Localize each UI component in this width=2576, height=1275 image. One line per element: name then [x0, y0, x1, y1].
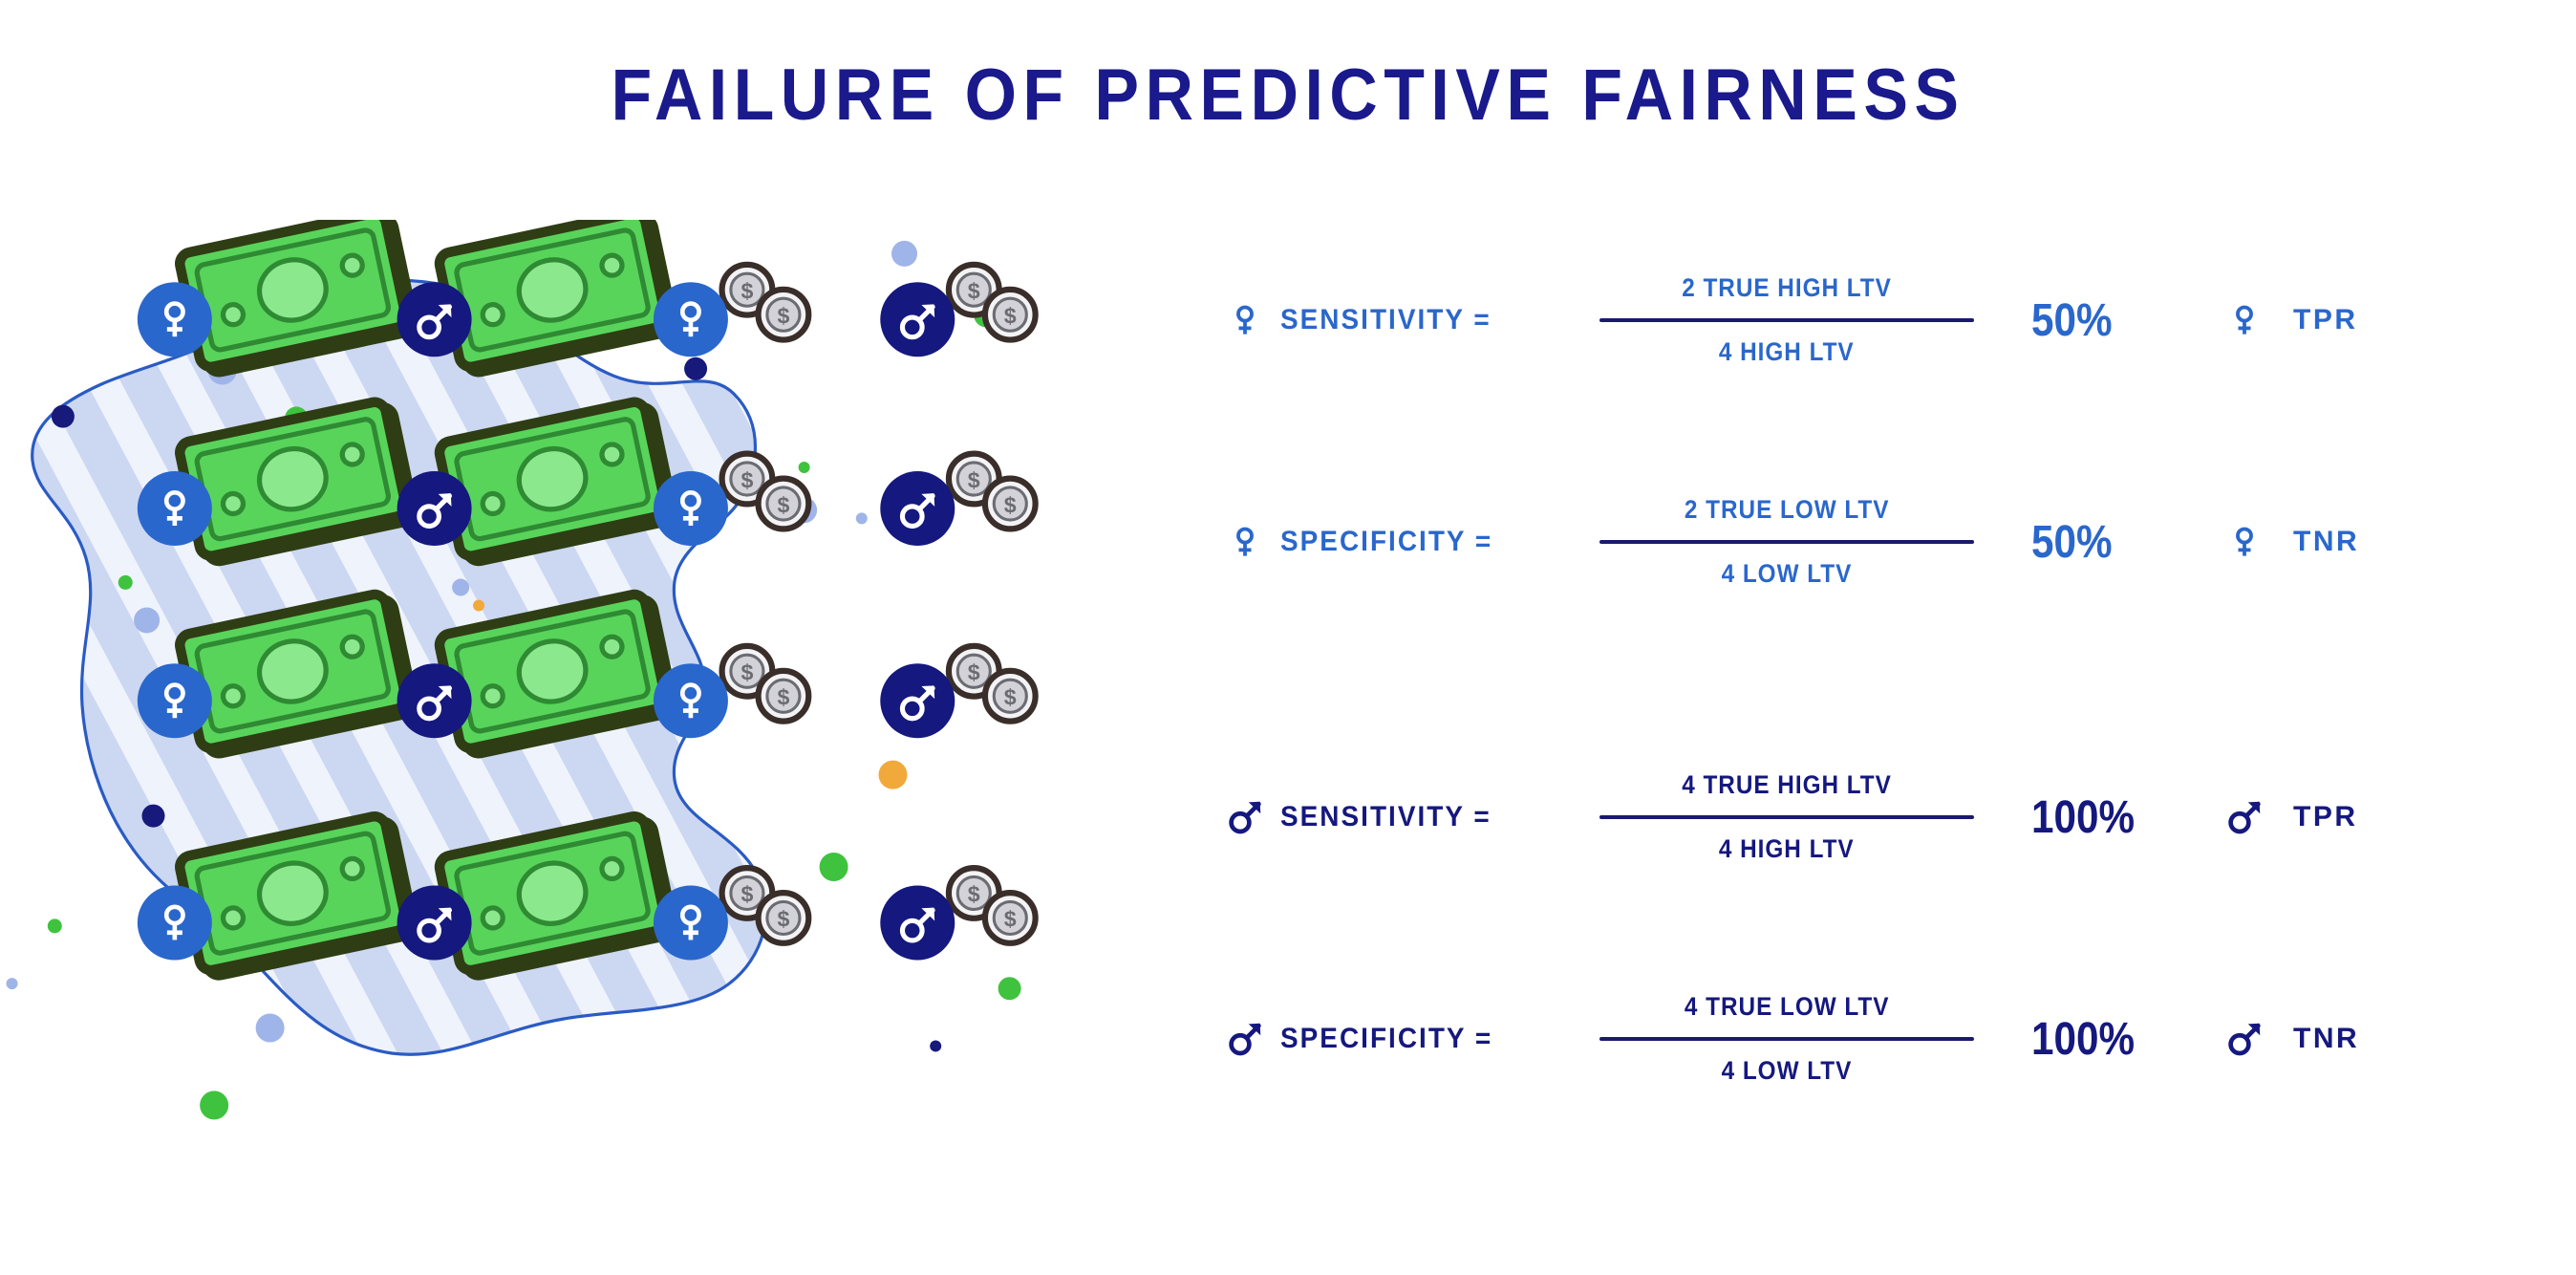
decorative-dot: [256, 1014, 285, 1043]
female-icon: [2222, 521, 2266, 563]
female-icon: [1223, 299, 1267, 341]
rate-group: TPR: [2222, 299, 2358, 341]
decorative-dot: [820, 853, 848, 881]
fraction: 2 TRUE HIGH LTV 4 HIGH LTV: [1596, 275, 1978, 365]
illustration-svg: $: [0, 220, 1147, 1223]
metric-label: SENSITIVITY =: [1280, 304, 1529, 336]
male-icon: [2222, 798, 2266, 836]
decorative-dot: [473, 599, 484, 611]
illustration-panel: $: [0, 220, 1147, 1223]
fraction-bar: [1599, 815, 1974, 819]
coin-icon: [985, 893, 1036, 943]
fraction: 4 TRUE HIGH LTV 4 HIGH LTV: [1596, 772, 1978, 862]
page-title: FAILURE OF PREDICTIVE FAIRNESS: [103, 54, 2473, 137]
decorative-dot: [684, 357, 707, 380]
fraction-bar: [1599, 318, 1974, 322]
person-marker-male[interactable]: [880, 454, 1035, 546]
fraction-denominator: 4 HIGH LTV: [1719, 339, 1855, 365]
fraction-denominator: 4 LOW LTV: [1722, 561, 1853, 587]
decorative-dot: [52, 405, 75, 428]
percent-value: 100%: [2031, 1013, 2191, 1066]
metric-label: SENSITIVITY =: [1280, 801, 1529, 833]
rate-label: TPR: [2293, 304, 2358, 336]
fraction-bar: [1599, 1037, 1974, 1041]
coin-icon: [985, 671, 1036, 722]
fraction-denominator: 4 LOW LTV: [1722, 1058, 1853, 1084]
female-icon: [1223, 521, 1267, 563]
rate-group: TNR: [2222, 521, 2359, 563]
decorative-dot: [998, 977, 1021, 1000]
fraction-numerator: 4 TRUE HIGH LTV: [1682, 772, 1892, 798]
fraction: 2 TRUE LOW LTV 4 LOW LTV: [1596, 497, 1978, 587]
coin-icon: [759, 479, 809, 529]
decorative-dot: [141, 805, 164, 828]
percent-value: 50%: [2031, 294, 2191, 347]
rate-group: TNR: [2222, 1020, 2359, 1058]
fraction-bar: [1599, 540, 1974, 544]
decorative-dot: [891, 241, 917, 267]
person-marker-male[interactable]: [880, 646, 1035, 738]
male-icon: [2222, 1020, 2266, 1058]
decorative-dot: [134, 607, 160, 633]
rate-label: TNR: [2293, 1023, 2359, 1055]
person-marker-female[interactable]: [654, 265, 808, 357]
decorative-dot: [856, 512, 868, 524]
fraction: 4 TRUE LOW LTV 4 LOW LTV: [1596, 994, 1978, 1084]
person-marker-male[interactable]: [397, 220, 676, 376]
person-marker-male[interactable]: [880, 265, 1035, 357]
infographic-page: FAILURE OF PREDICTIVE FAIRNESS: [0, 0, 2576, 1275]
rate-label: TNR: [2293, 526, 2359, 558]
percent-value: 50%: [2031, 516, 2191, 569]
fraction-denominator: 4 HIGH LTV: [1719, 836, 1855, 862]
fraction-numerator: 2 TRUE HIGH LTV: [1682, 275, 1892, 301]
person-marker-male[interactable]: [880, 868, 1035, 960]
decorative-dot: [452, 579, 469, 596]
decorative-dot: [799, 462, 810, 473]
rate-label: TPR: [2293, 801, 2358, 833]
coin-icon: [759, 290, 809, 340]
coin-icon: [985, 290, 1036, 340]
coin-icon: [759, 671, 809, 722]
fraction-numerator: 2 TRUE LOW LTV: [1685, 497, 1890, 523]
decorative-dot: [200, 1091, 228, 1119]
coin-icon: [985, 479, 1036, 529]
percent-value: 100%: [2031, 791, 2191, 844]
coin-icon: [759, 893, 809, 943]
formula-row-female-specificity: SPECIFICITY = 2 TRUE LOW LTV 4 LOW LTV 5…: [1223, 461, 2542, 623]
decorative-dot: [48, 918, 62, 933]
metric-label: SPECIFICITY =: [1280, 1023, 1529, 1055]
decorative-dot: [878, 761, 907, 789]
formula-row-male-specificity: SPECIFICITY = 4 TRUE LOW LTV 4 LOW LTV 1…: [1223, 958, 2542, 1120]
fraction-numerator: 4 TRUE LOW LTV: [1685, 994, 1890, 1020]
formula-row-female-sensitivity: SENSITIVITY = 2 TRUE HIGH LTV 4 HIGH LTV…: [1223, 239, 2542, 401]
decorative-dot: [930, 1040, 941, 1051]
formula-list: SENSITIVITY = 2 TRUE HIGH LTV 4 HIGH LTV…: [1223, 239, 2542, 1195]
money-bill-icon: [438, 220, 676, 376]
formula-row-male-sensitivity: SENSITIVITY = 4 TRUE HIGH LTV 4 HIGH LTV…: [1223, 736, 2542, 898]
rate-group: TPR: [2222, 798, 2358, 836]
metric-label: SPECIFICITY =: [1280, 526, 1529, 558]
male-icon: [1223, 1020, 1267, 1058]
female-icon: [2222, 299, 2266, 341]
decorative-dot: [118, 575, 133, 590]
male-icon: [1223, 798, 1267, 836]
decorative-dot: [7, 978, 18, 989]
